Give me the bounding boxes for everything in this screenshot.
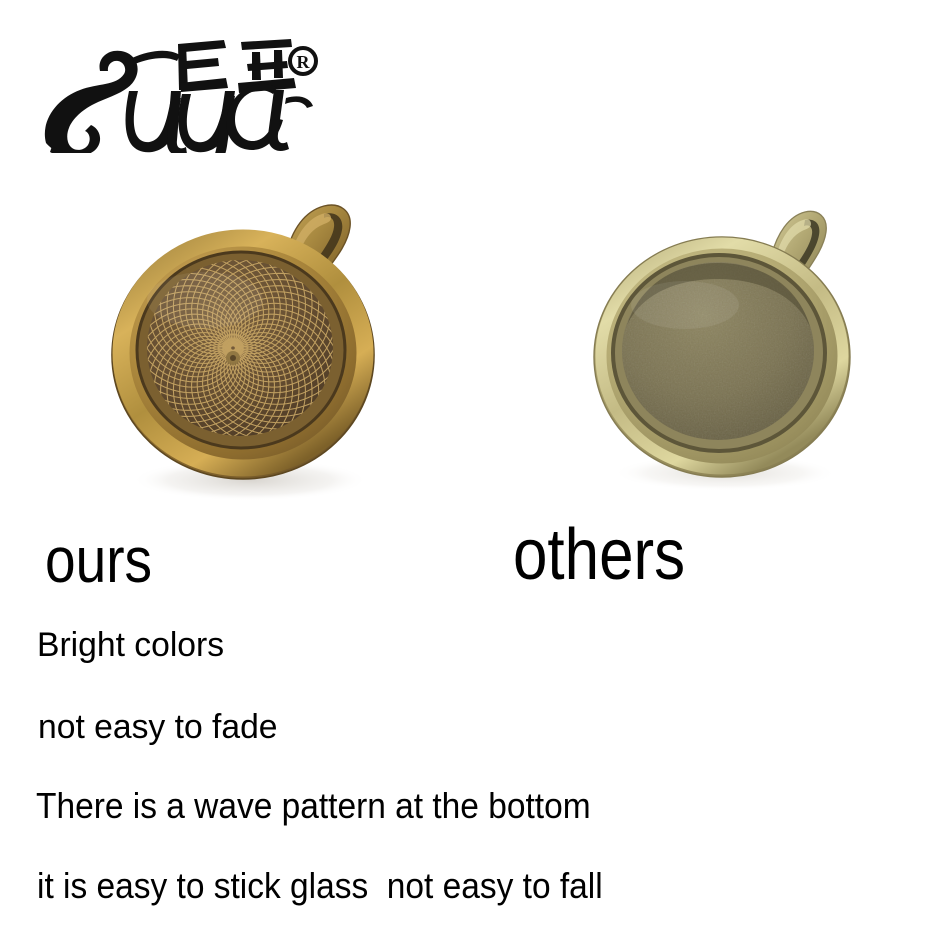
logo-chinese-characters	[178, 39, 296, 93]
feature-line-4: it is easy to stick glass not easy to fa…	[37, 868, 603, 904]
product-label-others: others	[513, 519, 685, 591]
product-image-ours	[100, 175, 390, 505]
feature-line-2: not easy to fade	[38, 710, 278, 744]
brand-logo: R	[28, 28, 318, 153]
svg-text:R: R	[297, 52, 311, 72]
product-label-ours: ours	[45, 528, 152, 592]
feature-line-3: There is a wave pattern at the bottom	[36, 788, 591, 824]
pendant-highlight	[631, 281, 739, 329]
pendant-highlight	[147, 272, 263, 328]
product-image-others	[585, 185, 865, 495]
feature-line-1: Bright colors	[37, 628, 224, 662]
registered-trademark-icon: R	[290, 48, 316, 74]
